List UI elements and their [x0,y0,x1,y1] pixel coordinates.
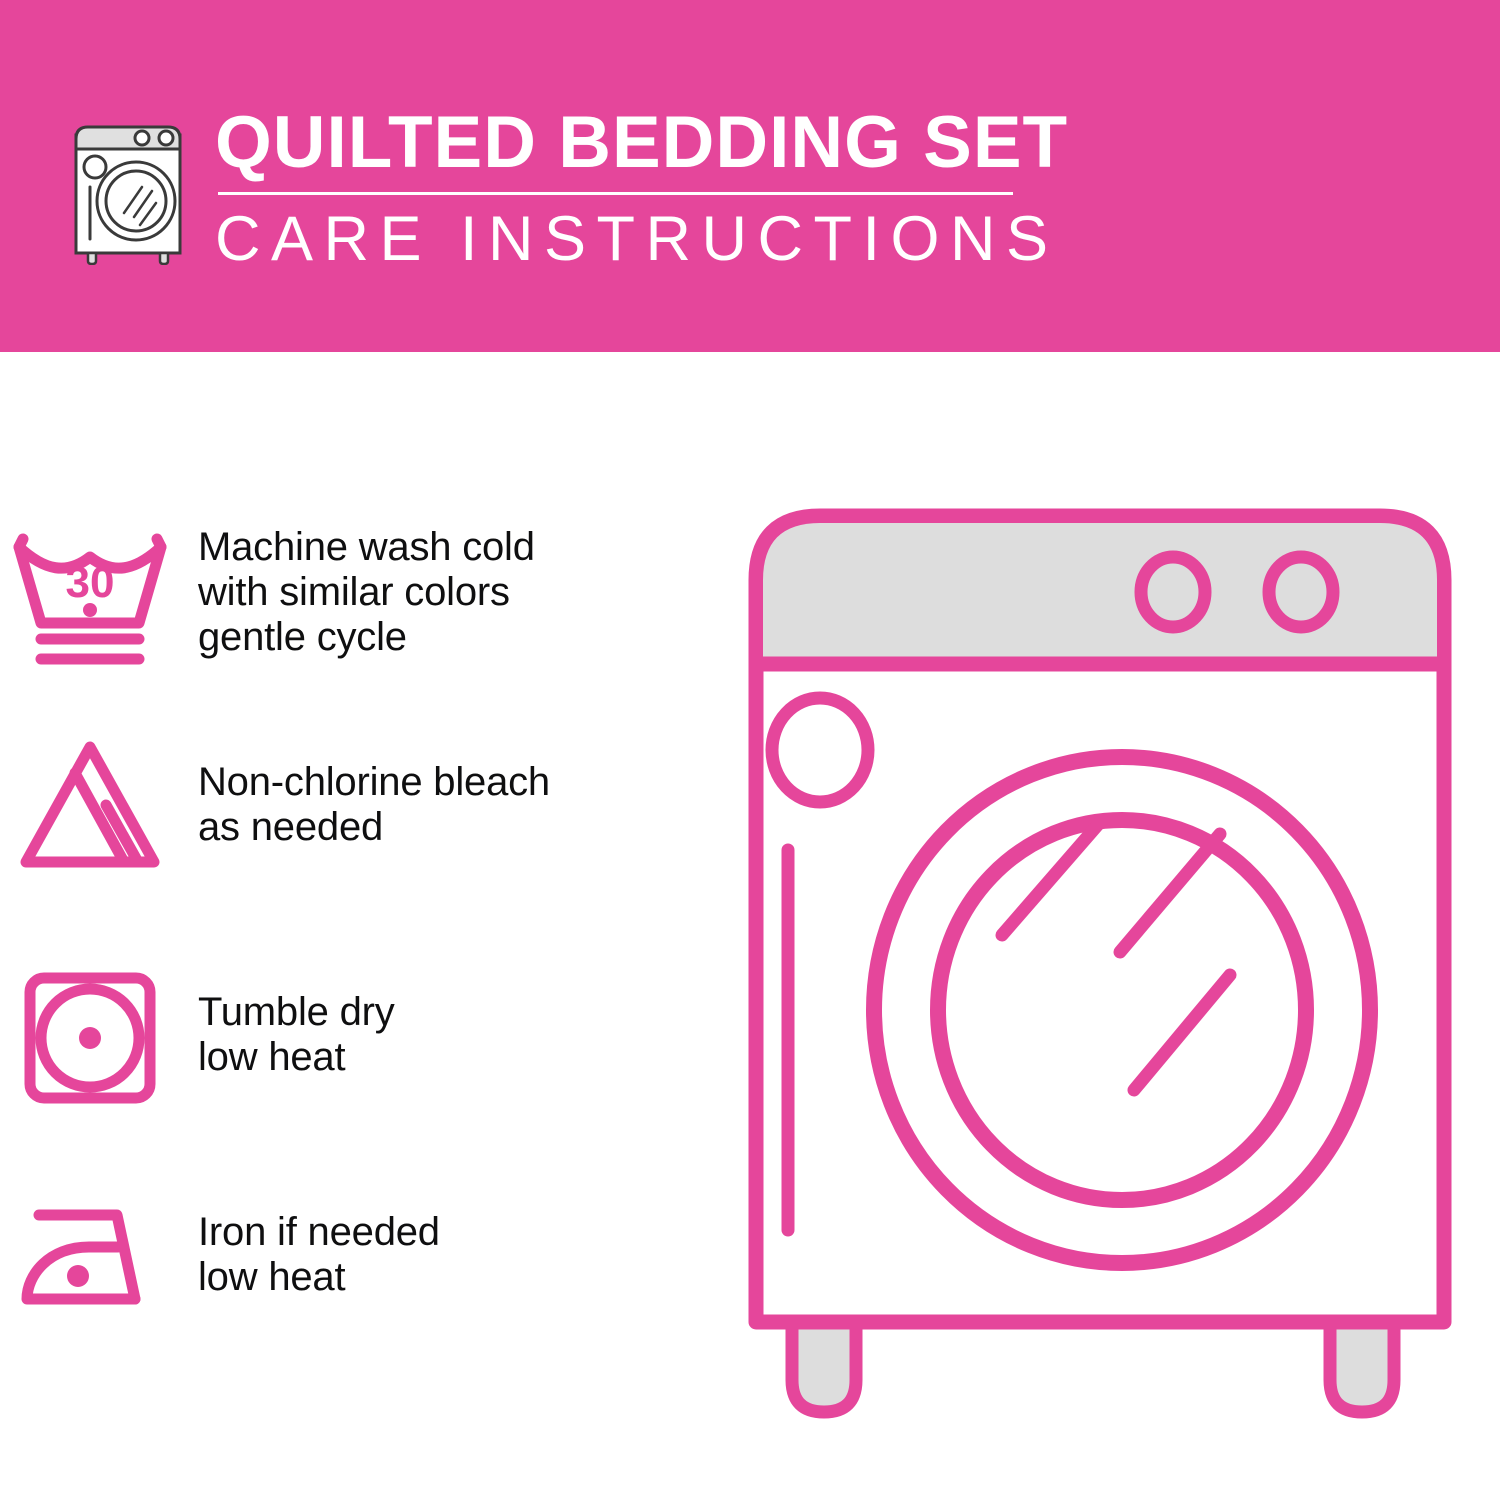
care-item-bleach: Non-chlorine bleach as needed [0,722,720,887]
care-item-machine-wash-text: Machine wash cold with similar colors ge… [180,525,535,660]
header-banner: QUILTED BEDDING SET CARE INSTRUCTIONS [0,0,1500,352]
care-text-line: Iron if needed [198,1210,440,1255]
care-item-bleach-text: Non-chlorine bleach as needed [180,760,550,850]
care-item-tumble-dry: Tumble dry low heat [0,952,720,1117]
care-text-line: low heat [198,1255,440,1300]
care-text-line: Machine wash cold [198,525,535,570]
care-text-line: with similar colors [198,570,535,615]
header-text-block: QUILTED BEDDING SET CARE INSTRUCTIONS [215,104,1025,273]
care-item-tumble-dry-text: Tumble dry low heat [180,990,395,1080]
care-item-machine-wash: 30 Machine wash cold with similar colors… [0,510,720,675]
washing-machine-icon [62,105,202,265]
care-instructions-page: QUILTED BEDDING SET CARE INSTRUCTIONS 30 [0,0,1500,1500]
care-item-iron: Iron if needed low heat [0,1172,720,1337]
care-text-line: gentle cycle [198,615,535,660]
page-subtitle: CARE INSTRUCTIONS [215,205,1025,273]
tumble-dry-low-heat-icon [0,952,180,1117]
care-instruction-list: 30 Machine wash cold with similar colors… [0,352,720,1500]
machine-legs [792,1315,1394,1412]
header-divider [218,192,1013,195]
care-text-line: low heat [198,1035,395,1080]
wash-basin-30-gentle-icon: 30 [0,510,180,675]
non-chlorine-bleach-triangle-icon [0,722,180,887]
care-text-line: Tumble dry [198,990,395,1035]
iron-low-heat-icon [0,1172,180,1337]
care-item-iron-text: Iron if needed low heat [180,1210,440,1300]
care-text-line: Non-chlorine bleach [198,760,550,805]
care-text-line: as needed [198,805,550,850]
front-load-washing-machine-illustration [730,470,1470,1470]
wash-temperature-label: 30 [66,558,115,607]
page-title: QUILTED BEDDING SET [215,104,1025,182]
